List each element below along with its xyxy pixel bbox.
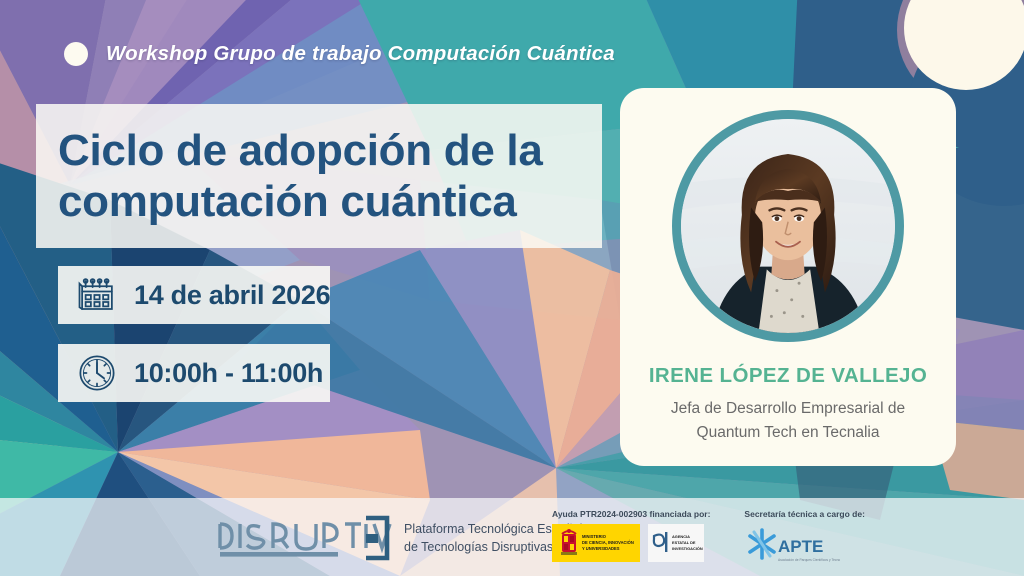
speaker-role: Jefa de Desarrollo Empresarial de Quantu… [671, 397, 905, 445]
event-date-value: 14 de abril 2026 [134, 280, 330, 311]
ministry-line-2: DE CIENCIA, INNOVACIÓN [582, 540, 634, 545]
apte-subtitle: Asociación de Parques Científicos y Tecn… [778, 558, 840, 562]
title-panel: Ciclo de adopción de la computación cuán… [36, 104, 602, 248]
event-poster: Workshop Grupo de trabajo Computación Cu… [0, 0, 1024, 576]
secretary-label: Secretaría técnica a cargo de: [744, 509, 864, 519]
ministry-of-science-logo: MINISTERIO DE CIENCIA, INNOVACIÓN Y UNIV… [552, 524, 640, 562]
footer-brand: Plataforma Tecnológica Española de Tecno… [216, 514, 589, 562]
secretary-block: Secretaría técnica a cargo de: APTE Asoc… [744, 509, 864, 570]
apte-wordmark: APTE [778, 537, 823, 556]
speaker-portrait [672, 110, 904, 342]
circle-dot-icon [64, 42, 88, 66]
agencia-estatal-investigacion-logo: AGENCIA ESTATAL DE INVESTIGACIÓN [648, 524, 704, 562]
page-title-line-1: Ciclo de adopción de la [58, 125, 602, 176]
event-time-badge: 10:00h - 11:00h [58, 344, 330, 402]
clock-icon [76, 352, 118, 394]
footer-institutional: Ayuda PTR2024-002903 financiada por: [552, 509, 865, 570]
funding-block: Ayuda PTR2024-002903 financiada por: [552, 509, 710, 562]
disruptive-logo [216, 514, 392, 562]
event-time-value: 10:00h - 11:00h [134, 358, 323, 389]
page-title-line-2: computación cuántica [58, 176, 602, 227]
aei-line-3: INVESTIGACIÓN [672, 546, 703, 551]
aei-line-2: ESTATAL DE [672, 540, 696, 545]
speaker-role-line-2: Quantum Tech en Tecnalia [671, 421, 905, 445]
speaker-card: IRENE LÓPEZ DE VALLEJO Jefa de Desarroll… [620, 88, 956, 466]
header: Workshop Grupo de trabajo Computación Cu… [64, 42, 615, 66]
workshop-label: Workshop Grupo de trabajo Computación Cu… [106, 42, 615, 66]
event-date-badge: 14 de abril 2026 [58, 266, 330, 324]
aei-line-1: AGENCIA [672, 534, 690, 539]
apte-logo: APTE Asociación de Parques Científicos y… [744, 524, 840, 570]
funding-label: Ayuda PTR2024-002903 financiada por: [552, 509, 710, 519]
ministry-line-3: Y UNIVERSIDADES [582, 546, 620, 551]
speaker-name: IRENE LÓPEZ DE VALLEJO [649, 364, 927, 388]
calendar-icon [76, 274, 118, 316]
ministry-line-1: MINISTERIO [582, 534, 607, 539]
speaker-role-line-1: Jefa de Desarrollo Empresarial de [671, 397, 905, 421]
funding-logos: MINISTERIO DE CIENCIA, INNOVACIÓN Y UNIV… [552, 524, 710, 562]
